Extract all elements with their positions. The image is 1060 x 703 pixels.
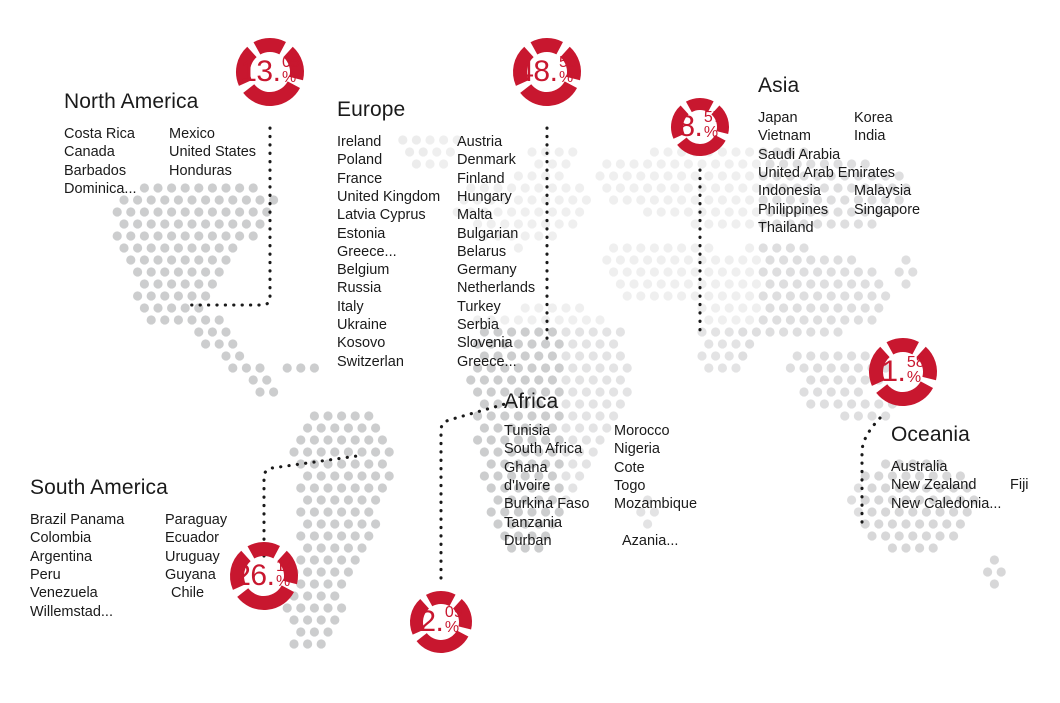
country-item: United Arab Emirates <box>758 164 854 182</box>
donut-percent-sign: % <box>445 621 459 635</box>
country-item: Italy <box>337 298 457 316</box>
country-item: Ukraine <box>337 316 457 334</box>
country-item-empty <box>854 146 920 164</box>
country-item: Poland <box>337 151 457 169</box>
country-item: United States <box>169 143 256 161</box>
country-item: Mozambique <box>614 495 697 513</box>
donut-decimal-point: . <box>898 357 906 387</box>
donut-percent-sign: % <box>907 371 921 385</box>
country-item: Chile <box>165 584 227 602</box>
donut-percent-sign: % <box>704 126 718 140</box>
region-country-lists-asia: Japan Vietnam Saudi Arabia United Arab E… <box>758 109 920 237</box>
region-block-africa: Africa Tunisia South Africa Ghana d'Ivoi… <box>504 390 697 550</box>
country-item: Willemstad... <box>30 603 165 621</box>
country-column-right: Fiji <box>1010 458 1029 513</box>
donut-integer: 2 <box>419 607 435 637</box>
country-item: Fiji <box>1010 476 1029 494</box>
infographic-canvas: North America Costa Rica Canada Barbados… <box>0 0 1060 703</box>
country-item: Denmark <box>457 151 535 169</box>
country-item: Singapore <box>854 201 920 219</box>
country-item: Greece... <box>337 243 457 261</box>
donut-percent-sign: % <box>276 575 290 589</box>
region-block-south-america: South America Brazil Panama Colombia Arg… <box>30 476 227 621</box>
country-column-left: Australia New Zealand New Caledonia... <box>891 458 1010 513</box>
donut-decimals: 05 <box>282 55 300 70</box>
donut-integer: 8 <box>678 112 694 142</box>
country-column-right: Mexico United States Honduras <box>169 125 256 198</box>
donut-integer: 13 <box>240 57 272 87</box>
country-item: Indonesia <box>758 182 854 200</box>
country-column-right: Paraguay Ecuador Uruguay Guyana Chile <box>165 511 227 621</box>
country-column-right: Morocco Nigeria Cote Togo Mozambique Aza… <box>614 422 697 550</box>
country-item: South Africa <box>504 440 614 458</box>
donut-decimal-point: . <box>267 561 275 591</box>
country-item: India <box>854 127 920 145</box>
country-item: New Caledonia... <box>891 495 1010 513</box>
region-block-asia: Asia Japan Vietnam Saudi Arabia United A… <box>758 74 920 237</box>
country-item: Guyana <box>165 566 227 584</box>
country-item: Canada <box>64 143 169 161</box>
region-block-europe: Europe Ireland Poland France United King… <box>337 98 535 371</box>
donut-decimal-point: . <box>550 57 558 87</box>
country-item: France <box>337 170 457 188</box>
donut-decimals: 09 <box>445 605 463 620</box>
region-block-north-america: North America Costa Rica Canada Barbados… <box>64 90 256 198</box>
country-item: Estonia <box>337 225 457 243</box>
donut-decimals: 57 <box>704 110 722 125</box>
region-title-south-america: South America <box>30 476 227 499</box>
country-item: Paraguay <box>165 511 227 529</box>
donut-integer: 26 <box>234 561 266 591</box>
donut-integer: 48 <box>517 57 549 87</box>
country-item: Brazil Panama <box>30 511 165 529</box>
donut-value-africa: 2 . 09 % <box>404 585 478 659</box>
region-country-lists-europe: Ireland Poland France United Kingdom Lat… <box>337 133 535 371</box>
region-country-lists-oceania: Australia New Zealand New Caledonia... F… <box>891 458 1029 513</box>
region-country-lists-south-america: Brazil Panama Colombia Argentina Peru Ve… <box>30 511 227 621</box>
country-item-empty <box>1010 458 1029 476</box>
country-item: Cote <box>614 459 697 477</box>
country-item: Germany <box>457 261 535 279</box>
donut-percent-sign: % <box>559 71 573 85</box>
donut-percent-sign: % <box>282 71 296 85</box>
country-item: Ireland <box>337 133 457 151</box>
country-item: Peru <box>30 566 165 584</box>
country-item: Russia <box>337 279 457 297</box>
country-column-left: Tunisia South Africa Ghana d'Ivoire Burk… <box>504 422 614 550</box>
country-item: d'Ivoire <box>504 477 614 495</box>
country-item: Switzerlan <box>337 353 457 371</box>
country-item: Burkina Faso <box>504 495 614 513</box>
country-item-empty <box>614 514 697 532</box>
country-column-left: Costa Rica Canada Barbados Dominica... <box>64 125 169 198</box>
donut-decimal-point: . <box>273 57 281 87</box>
country-item: Australia <box>891 458 1010 476</box>
country-item: Dominica... <box>64 180 169 198</box>
donut-label: 8 . 57 % <box>665 92 735 162</box>
donut-label: 1 . 58 % <box>864 333 942 411</box>
region-title-africa: Africa <box>504 390 697 413</box>
country-item: Finland <box>457 170 535 188</box>
country-item: Tunisia <box>504 422 614 440</box>
country-item: Colombia <box>30 529 165 547</box>
donut-decimals: 14 <box>276 559 294 574</box>
country-column-right: Austria Denmark Finland Hungary Malta Bu… <box>457 133 535 371</box>
country-item: Hungary <box>457 188 535 206</box>
country-item: Tanzania <box>504 514 614 532</box>
donut-decimals: 58 <box>907 355 925 370</box>
country-item: Thailand <box>758 219 854 237</box>
country-item: Latvia Cyprus <box>337 206 457 224</box>
country-item: Saudi Arabia <box>758 146 854 164</box>
donut-decimal-point: . <box>436 607 444 637</box>
country-item-empty <box>854 164 920 182</box>
region-title-asia: Asia <box>758 74 920 97</box>
country-item: Slovenia <box>457 334 535 352</box>
region-block-oceania: Oceania Australia New Zealand New Caledo… <box>891 423 1029 513</box>
country-item: Costa Rica <box>64 125 169 143</box>
donut-decimal-point: . <box>695 112 703 142</box>
country-item: Belgium <box>337 261 457 279</box>
country-item: Bulgarian <box>457 225 535 243</box>
country-item: Honduras <box>169 162 256 180</box>
country-item: Turkey <box>457 298 535 316</box>
country-item: Ecuador <box>165 529 227 547</box>
region-title-north-america: North America <box>64 90 256 113</box>
country-item: Japan <box>758 109 854 127</box>
country-item: Korea <box>854 109 920 127</box>
donut-value-asia: 8 . 57 % <box>665 92 735 162</box>
country-item: Azania... <box>614 532 697 550</box>
country-item: Austria <box>457 133 535 151</box>
donut-value-south-america: 26 . 14 % <box>224 536 304 616</box>
country-item: Mexico <box>169 125 256 143</box>
donut-label: 26 . 14 % <box>224 536 304 616</box>
region-title-europe: Europe <box>337 98 535 121</box>
donut-integer: 1 <box>881 357 897 387</box>
donut-value-oceania: 1 . 58 % <box>864 333 942 411</box>
country-item: Malaysia <box>854 182 920 200</box>
country-column-right: Korea India Malaysia Singapore <box>854 109 920 237</box>
country-item: Barbados <box>64 162 169 180</box>
country-item: Venezuela <box>30 584 165 602</box>
region-title-oceania: Oceania <box>891 423 1029 446</box>
country-item: Vietnam <box>758 127 854 145</box>
country-item: Nigeria <box>614 440 697 458</box>
country-item: Malta <box>457 206 535 224</box>
country-item: Netherlands <box>457 279 535 297</box>
country-item: Belarus <box>457 243 535 261</box>
donut-decimals: 56 <box>559 55 577 70</box>
country-item: New Zealand <box>891 476 1010 494</box>
country-item: Ghana <box>504 459 614 477</box>
country-item: Argentina <box>30 548 165 566</box>
region-country-lists-africa: Tunisia South Africa Ghana d'Ivoire Burk… <box>504 422 697 550</box>
country-column-left: Japan Vietnam Saudi Arabia United Arab E… <box>758 109 854 237</box>
country-item: Durban <box>504 532 614 550</box>
country-column-left: Ireland Poland France United Kingdom Lat… <box>337 133 457 371</box>
country-column-left: Brazil Panama Colombia Argentina Peru Ve… <box>30 511 165 621</box>
country-item: Togo <box>614 477 697 495</box>
country-item: Greece... <box>457 353 535 371</box>
region-country-lists-north-america: Costa Rica Canada Barbados Dominica... M… <box>64 125 256 198</box>
country-item: Philippines <box>758 201 854 219</box>
country-item: United Kingdom <box>337 188 457 206</box>
donut-label: 2 . 09 % <box>404 585 478 659</box>
country-item: Serbia <box>457 316 535 334</box>
country-item: Kosovo <box>337 334 457 352</box>
country-item: Uruguay <box>165 548 227 566</box>
country-item: Morocco <box>614 422 697 440</box>
